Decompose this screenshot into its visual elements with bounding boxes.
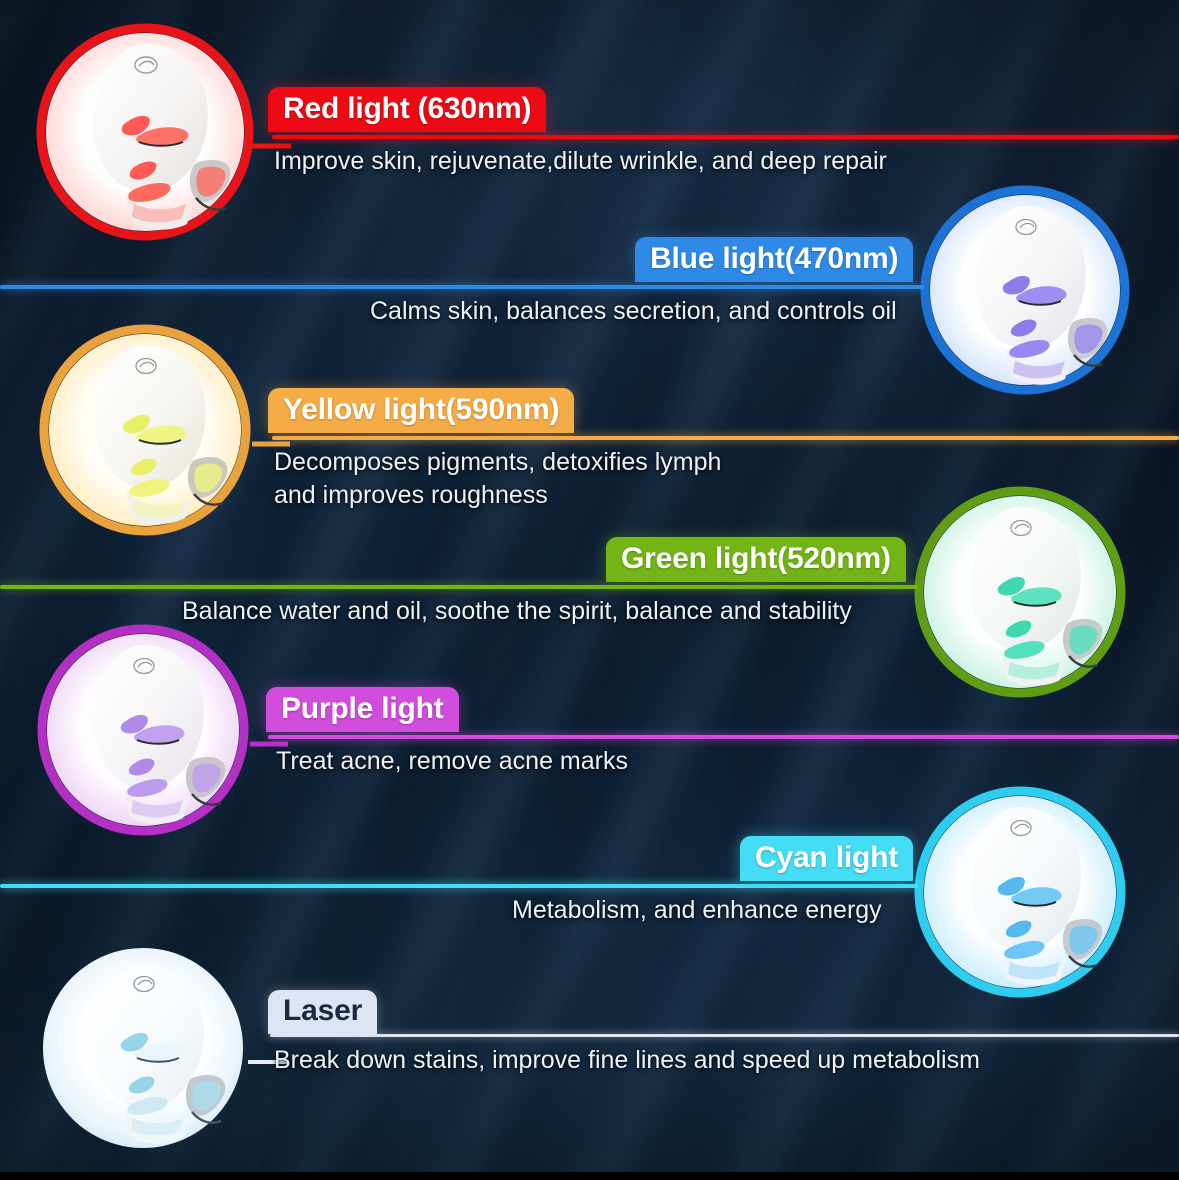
label-blue[interactable]: Blue light(470nm) xyxy=(635,237,913,282)
description-cyan: Metabolism, and enhance energy xyxy=(512,894,882,927)
mask-image-laser xyxy=(26,944,266,1156)
mask-image-yellow xyxy=(28,324,266,536)
mask-image-blue xyxy=(922,186,1160,396)
description-laser: Break down stains, improve fine lines an… xyxy=(274,1044,980,1077)
description-yellow: Decomposes pigments, detoxifies lymph an… xyxy=(274,446,721,513)
description-red: Improve skin, rejuvenate,dilute wrinkle,… xyxy=(274,145,887,178)
label-laser[interactable]: Laser xyxy=(268,990,377,1034)
mask-image-purple xyxy=(26,624,266,836)
divider-red xyxy=(272,135,1179,139)
description-green: Balance water and oil, soothe the spirit… xyxy=(182,595,852,628)
divider-purple xyxy=(268,735,1179,739)
bottom-black-bar xyxy=(0,1172,1179,1180)
divider-yellow xyxy=(272,436,1179,440)
divider-laser xyxy=(270,1034,1179,1037)
label-green[interactable]: Green light(520nm) xyxy=(606,537,906,582)
divider-green xyxy=(0,585,918,589)
divider-cyan xyxy=(0,884,918,888)
label-purple[interactable]: Purple light xyxy=(266,687,459,732)
mask-image-green xyxy=(916,486,1156,698)
label-yellow[interactable]: Yellow light(590nm) xyxy=(268,388,574,433)
description-blue: Calms skin, balances secretion, and cont… xyxy=(370,295,897,328)
divider-blue xyxy=(0,285,924,289)
mask-image-cyan xyxy=(916,786,1156,998)
label-red[interactable]: Red light (630nm) xyxy=(268,87,546,132)
mask-image-red xyxy=(26,22,266,242)
product-infographic: Red light (630nm) Improve skin, rejuvena… xyxy=(0,0,1179,1180)
description-purple: Treat acne, remove acne marks xyxy=(276,745,628,778)
label-cyan[interactable]: Cyan light xyxy=(740,836,913,881)
